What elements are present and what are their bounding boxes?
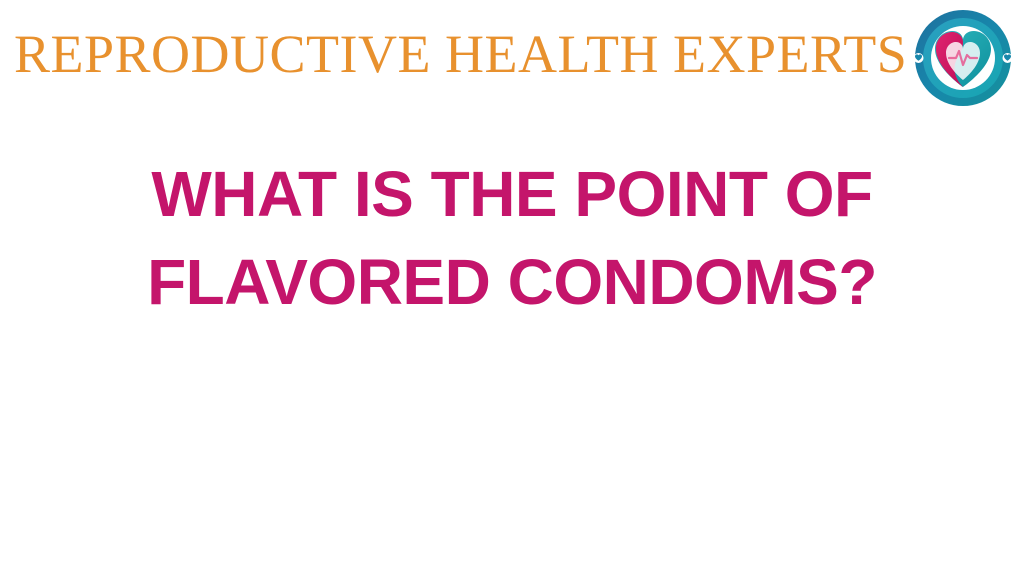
headline-line-1: WHAT IS THE POINT OF	[0, 150, 1024, 238]
logo-badge-left	[914, 53, 924, 63]
brand-title: REPRODUCTIVE HEALTH EXPERTS	[14, 24, 864, 84]
heart-circle-logo-icon	[913, 8, 1013, 108]
headline-line-2: FLAVORED CONDOMS?	[0, 238, 1024, 326]
brand-logo[interactable]	[913, 8, 1013, 108]
headline-block: WHAT IS THE POINT OF FLAVORED CONDOMS?	[0, 150, 1024, 326]
logo-badge-right	[1003, 53, 1013, 63]
brand-header: REPRODUCTIVE HEALTH EXPERTS	[0, 0, 1024, 118]
slide-canvas: REPRODUCTIVE HEALTH EXPERTS	[0, 0, 1024, 576]
content-area	[0, 320, 1024, 576]
